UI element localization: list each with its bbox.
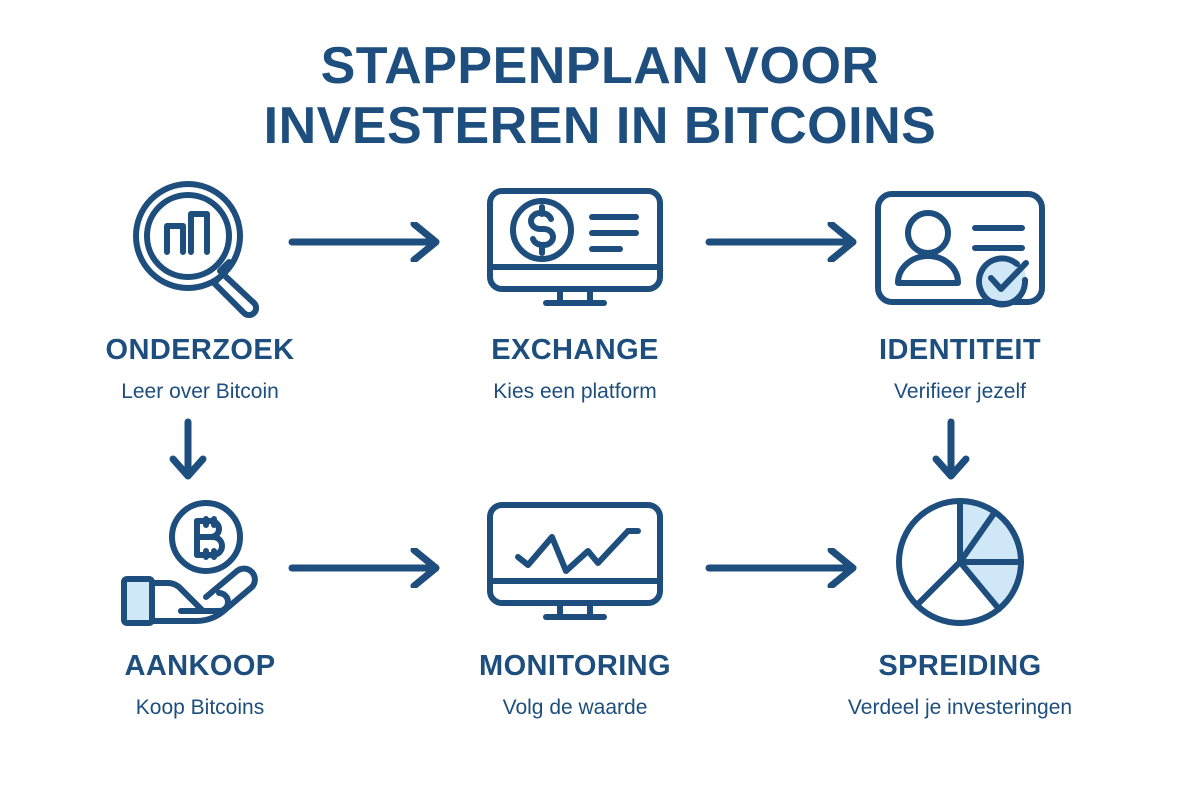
arrow-right-icon: [705, 548, 865, 588]
step-title: AANKOOP: [40, 652, 360, 681]
step-subtitle: Leer over Bitcoin: [40, 381, 360, 402]
arrow-right-icon: [705, 222, 865, 262]
infographic-canvas: STAPPENPLAN VOOR INVESTEREN IN BITCOINS …: [0, 0, 1200, 800]
step-onderzoek: ONDERZOEK Leer over Bitcoin: [40, 178, 360, 402]
step-title: IDENTITEIT: [800, 336, 1120, 365]
step-title: MONITORING: [415, 652, 735, 681]
monitor-dollar-icon: [415, 178, 735, 318]
step-subtitle: Koop Bitcoins: [40, 697, 360, 718]
step-subtitle: Kies een platform: [415, 381, 735, 402]
step-title: EXCHANGE: [415, 336, 735, 365]
arrow-down-icon: [931, 418, 971, 484]
title-line-2: INVESTEREN IN BITCOINS: [0, 96, 1200, 156]
step-subtitle: Verifieer jezelf: [800, 381, 1120, 402]
step-spreiding: SPREIDING Verdeel je investeringen: [800, 492, 1120, 718]
title-line-1: STAPPENPLAN VOOR: [0, 36, 1200, 96]
arrow-down-icon: [168, 418, 208, 484]
step-subtitle: Volg de waarde: [415, 697, 735, 718]
step-identiteit: IDENTITEIT Verifieer jezelf: [800, 178, 1120, 402]
step-subtitle: Verdeel je investeringen: [800, 697, 1120, 718]
step-exchange: EXCHANGE Kies een platform: [415, 178, 735, 402]
monitor-line-chart-icon: [415, 492, 735, 632]
page-title: STAPPENPLAN VOOR INVESTEREN IN BITCOINS: [0, 36, 1200, 157]
step-monitoring: MONITORING Volg de waarde: [415, 492, 735, 718]
arrow-right-icon: [288, 222, 448, 262]
step-aankoop: AANKOOP Koop Bitcoins: [40, 492, 360, 718]
step-title: ONDERZOEK: [40, 336, 360, 365]
arrow-right-icon: [288, 548, 448, 588]
step-title: SPREIDING: [800, 652, 1120, 681]
